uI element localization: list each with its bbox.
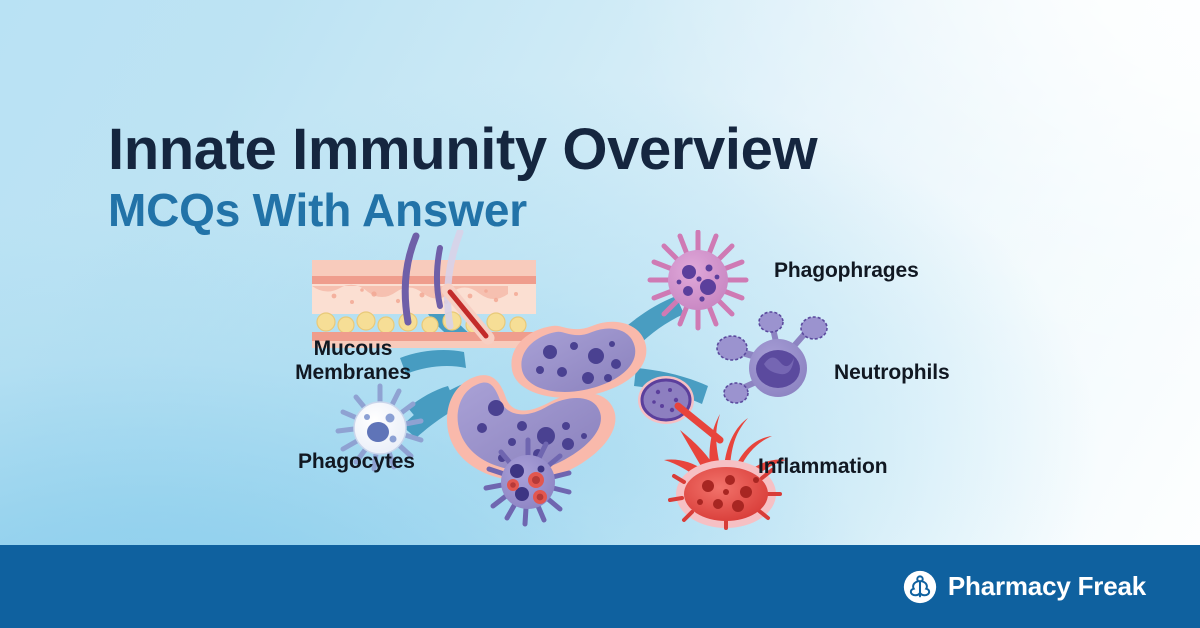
page-title: Innate Immunity Overview MCQs With Answe…	[108, 120, 1108, 234]
title-subtitle: MCQs With Answer	[108, 187, 1108, 234]
label-inflammation: Inflammation	[758, 455, 968, 479]
poster-canvas: Innate Immunity Overview MCQs With Answe…	[0, 0, 1200, 628]
label-phagophrages: Phagophrages	[774, 259, 1004, 283]
pharmacy-mortar-icon	[903, 570, 937, 604]
skin-cross-section	[284, 232, 536, 348]
title-main: Innate Immunity Overview	[108, 120, 1108, 179]
brand-lockup: Pharmacy Freak	[903, 570, 1146, 604]
neutrophil-cell	[717, 312, 827, 403]
footer-bar: Pharmacy Freak	[0, 545, 1200, 628]
label-mucous-membranes: Mucous Membranes	[253, 337, 453, 384]
macrophage-cell	[511, 322, 646, 398]
label-phagocytes: Phagocytes	[298, 450, 468, 474]
brand-name: Pharmacy Freak	[948, 571, 1146, 602]
attacking-cell	[638, 376, 720, 440]
spiky-virus-pink	[650, 232, 746, 328]
label-neutrophils: Neutrophils	[834, 361, 1034, 385]
inflammation-cell	[638, 376, 786, 528]
